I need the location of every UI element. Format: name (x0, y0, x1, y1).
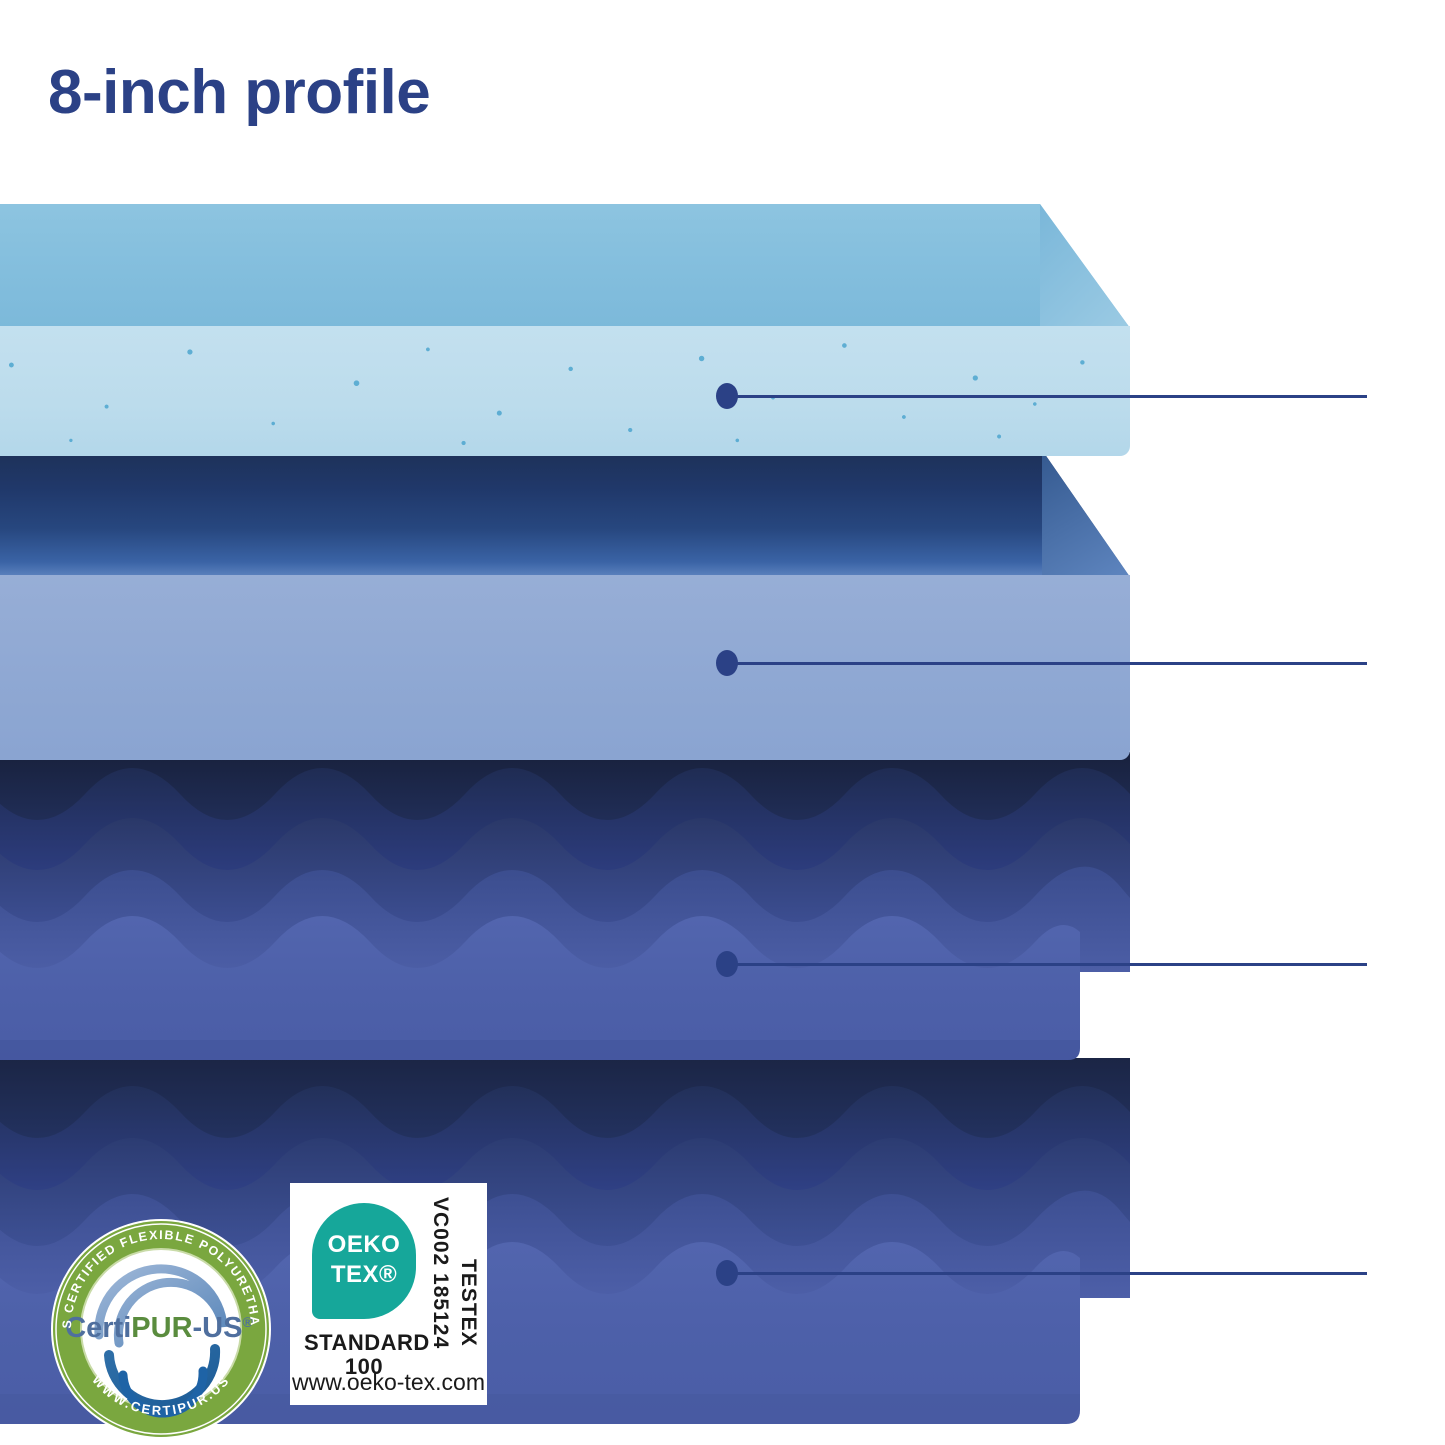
oeko-tex-url: www.oeko-tex.com (290, 1369, 487, 1396)
foam-layer-2-support (0, 450, 1130, 760)
leader-line-layer-2 (727, 662, 1367, 665)
oeko-tex-brand-line-2: TEX® (312, 1261, 416, 1289)
svg-text:CertiPUR-US®: CertiPUR-US® (65, 1312, 253, 1344)
oeko-tex-certificate-number: VC002 185124 (428, 1197, 452, 1349)
layer-2-top-surface (0, 450, 1130, 577)
oeko-tex-institute: TESTEX (456, 1259, 480, 1347)
foam-layer-1-cooling-gel (0, 204, 1130, 456)
gel-bead-texture (0, 326, 1130, 456)
leader-line-layer-3 (727, 963, 1367, 966)
oeko-tex-standard-100-label: OEKO TEX® STANDARD 100 VC002 185124 TEST… (290, 1183, 487, 1405)
convoluted-foam-texture (0, 752, 1130, 1062)
product-layer-infographic: 8-inch profile (0, 0, 1445, 1445)
layer-1-top-surface (0, 204, 1130, 328)
leader-line-layer-4 (727, 1272, 1367, 1275)
leader-line-layer-1 (727, 395, 1367, 398)
oeko-tex-droplet-logo: OEKO TEX® (312, 1203, 416, 1319)
layer-1-side-bevel (1040, 204, 1130, 334)
layer-2-side-bevel (1042, 450, 1130, 580)
layer-2-front-face (0, 575, 1130, 760)
foam-layer-3-convoluted-base (0, 752, 1130, 1062)
oeko-tex-brand-line-1: OEKO (312, 1231, 416, 1259)
certipur-us-badge: CertiPUR-US® CONTAINS CERTIFIED FLEXIBLE… (47, 1215, 275, 1443)
